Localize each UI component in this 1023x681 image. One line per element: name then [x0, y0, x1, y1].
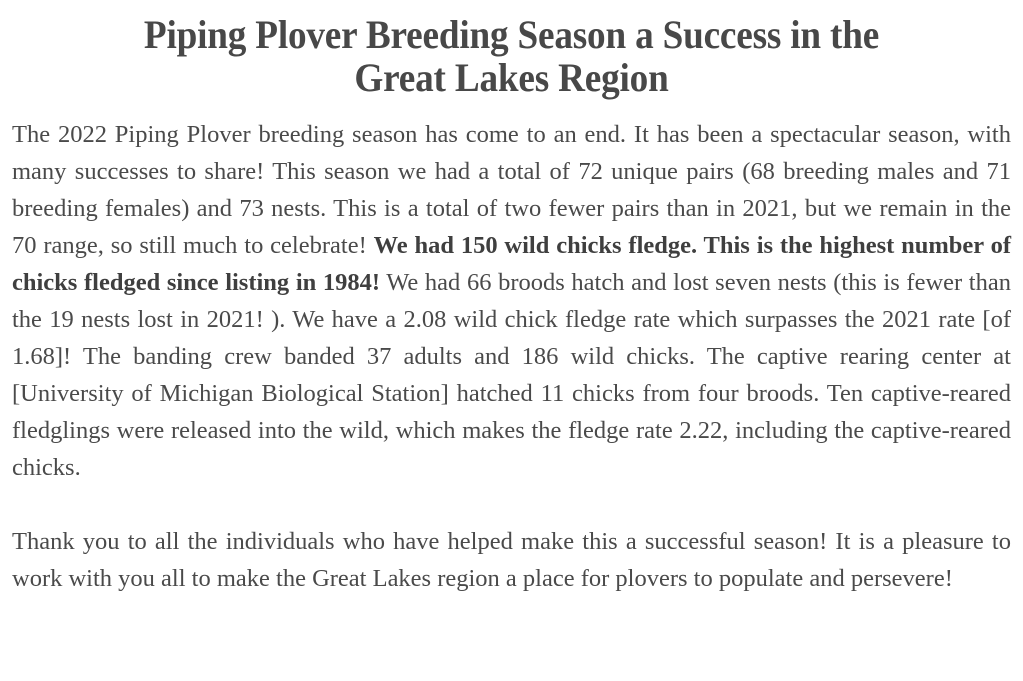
paragraph-run-details: We had 66 broods hatch and lost seven ne… — [12, 269, 1011, 481]
page-title: Piping Plover Breeding Season a Success … — [47, 0, 976, 99]
article-body: The 2022 Piping Plover breeding season h… — [12, 99, 1011, 597]
paragraph-acknowledgements: Thank you to all the individuals who hav… — [12, 523, 1011, 597]
paragraph-run-thanks: Thank you to all the individuals who hav… — [12, 528, 1011, 592]
document-page: Piping Plover Breeding Season a Success … — [0, 0, 1023, 681]
paragraph-season-summary: The 2022 Piping Plover breeding season h… — [12, 116, 1011, 486]
